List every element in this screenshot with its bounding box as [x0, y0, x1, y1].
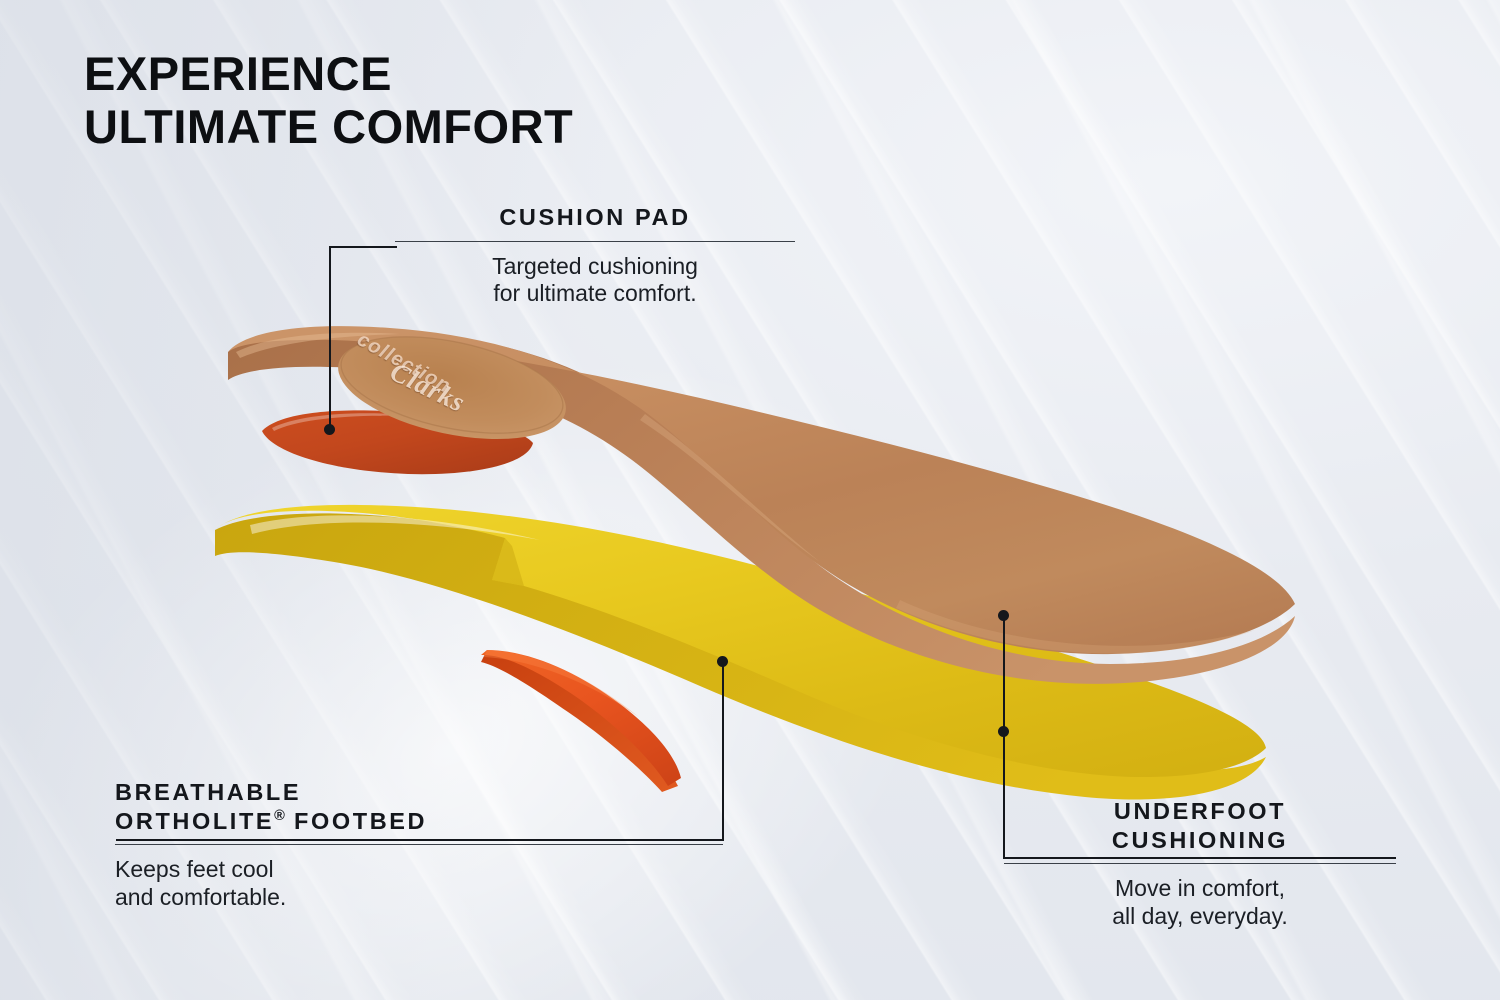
callout-underfoot-cushioning-description: Move in comfort, all day, everyday. — [1004, 875, 1396, 931]
callout-underfoot-cushioning: UNDERFOOT CUSHIONING Move in comfort, al… — [1004, 797, 1396, 931]
callout-cushion-pad-title: CUSHION PAD — [395, 203, 795, 232]
callout-ortholite-footbed-rule — [115, 844, 723, 845]
callout-cushion-pad-description: Targeted cushioning for ultimate comfort… — [395, 253, 795, 309]
callout-ortholite-footbed-title: BREATHABLEORTHOLITE® FOOTBED — [115, 778, 723, 835]
leader-dot-cushion-pad — [324, 424, 335, 435]
leader-dot-underfoot-tan — [998, 610, 1009, 621]
callout-underfoot-cushioning-title: UNDERFOOT CUSHIONING — [1004, 797, 1396, 854]
callout-ortholite-title-line1: BREATHABLE — [115, 779, 301, 805]
layer-underfoot-blade — [481, 650, 681, 792]
callout-ortholite-title-line2-after: FOOTBED — [285, 808, 427, 834]
leader-line-cushion-pad — [329, 247, 331, 431]
callout-ortholite-title-brand: ORTHOLITE — [115, 808, 274, 834]
leader-dot-ortholite — [717, 656, 728, 667]
leader-line-cushion-pad-horizontal — [329, 246, 397, 248]
callout-ortholite-footbed: BREATHABLEORTHOLITE® FOOTBED Keeps feet … — [115, 778, 723, 912]
callout-ortholite-footbed-description: Keeps feet cool and comfortable. — [115, 856, 723, 912]
leader-dot-underfoot-yellow — [998, 726, 1009, 737]
callout-cushion-pad: CUSHION PAD Targeted cushioning for ulti… — [395, 203, 795, 308]
registered-trademark-icon: ® — [274, 808, 285, 824]
infographic-canvas: EXPERIENCE ULTIMATE COMFORT — [0, 0, 1500, 1000]
callout-underfoot-cushioning-rule — [1004, 863, 1396, 864]
callout-cushion-pad-rule — [395, 241, 795, 242]
